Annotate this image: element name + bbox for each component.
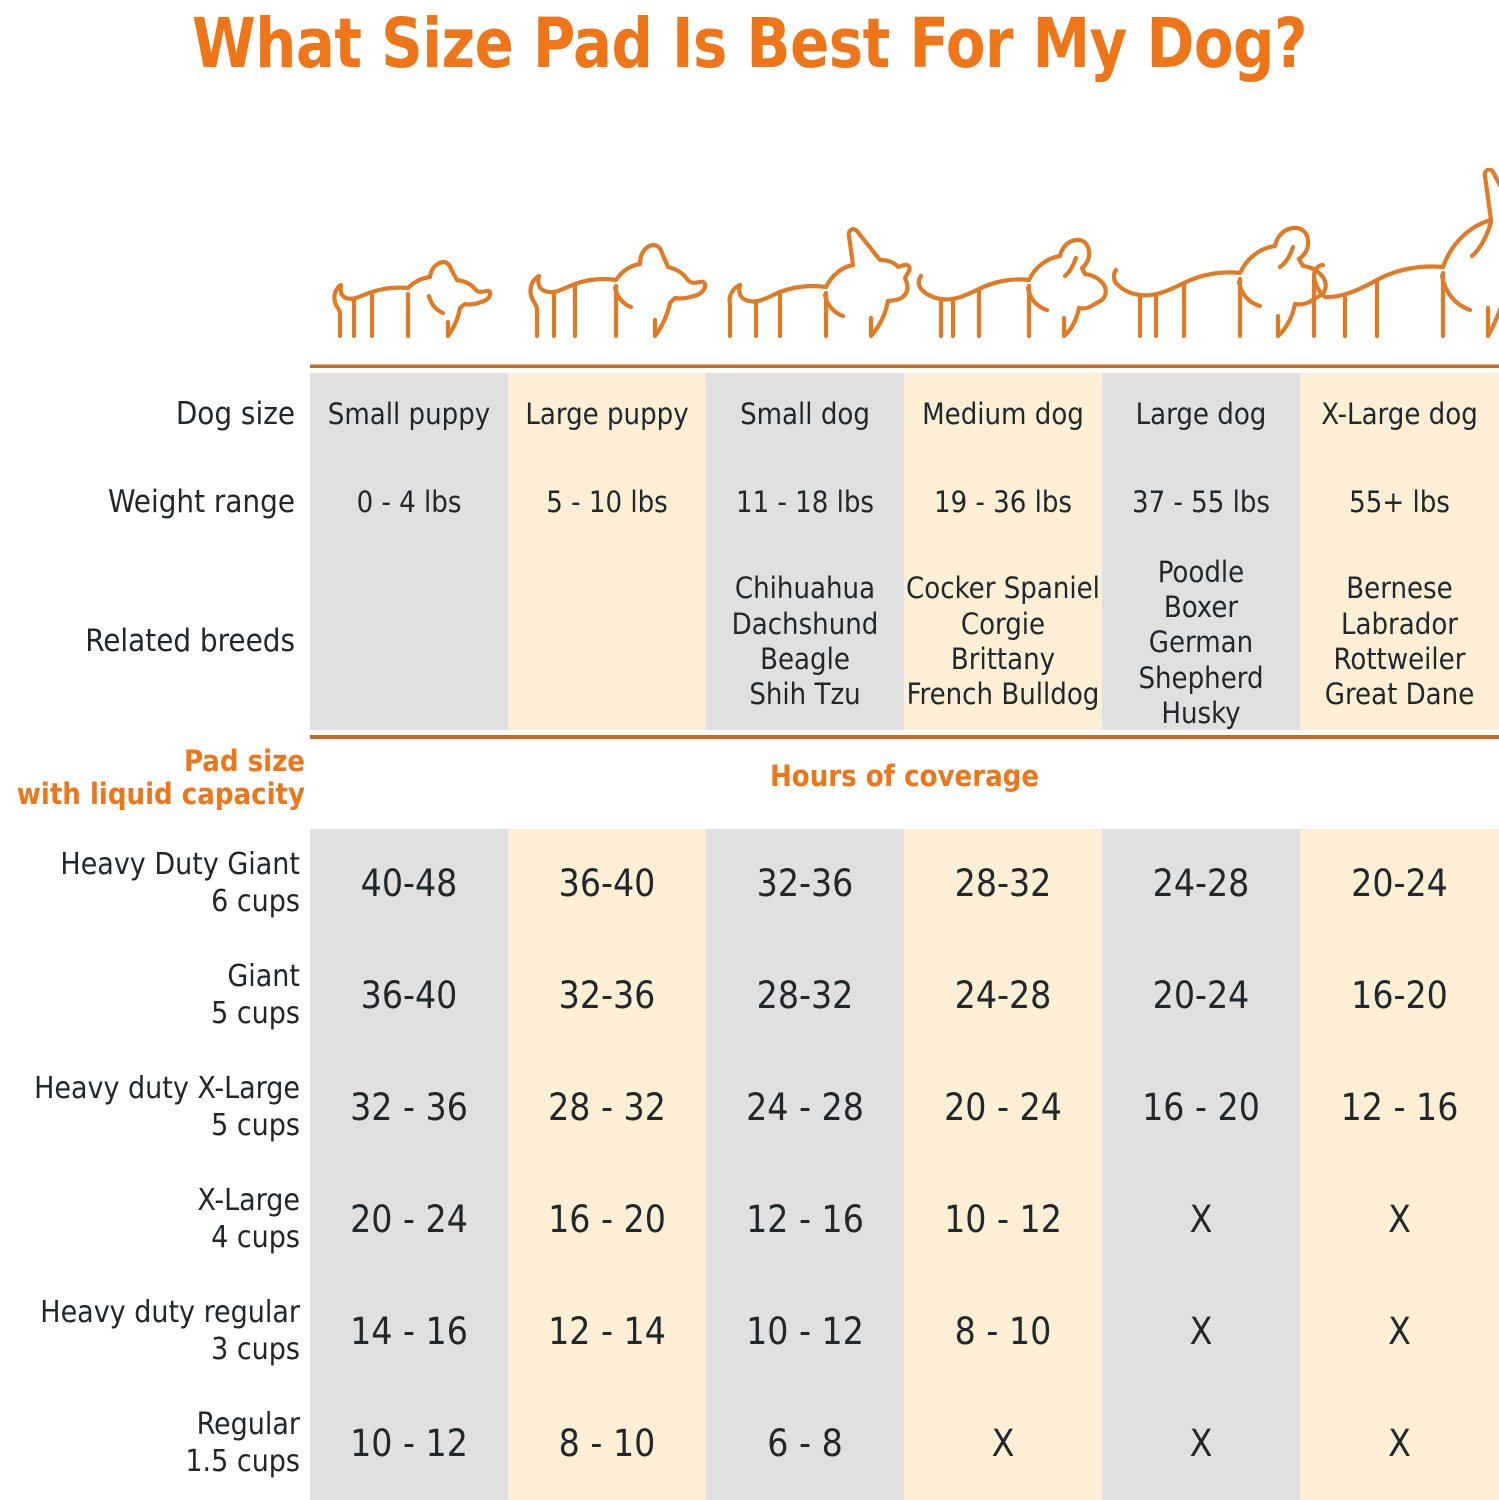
pad-cell-1-4: 28-32	[904, 845, 1102, 923]
cell-related-breeds-4: Cocker Spaniel Corgie Brittany French Bu…	[904, 556, 1102, 728]
pad-cell-3-5: 16 - 20	[1102, 1069, 1300, 1147]
cell-weight-range-5: 37 - 55 lbs	[1102, 477, 1300, 529]
pad-cell-1-1: 40-48	[310, 845, 508, 923]
pad-cell-1-3: 32-36	[706, 845, 904, 923]
column-band-2-6	[1300, 829, 1499, 1500]
pad-cell-5-5: X	[1102, 1293, 1300, 1371]
pad-cell-2-6: 16-20	[1300, 957, 1499, 1035]
cell-weight-range-3: 11 - 18 lbs	[706, 477, 904, 529]
infographic-page: What Size Pad Is Best For My Dog?	[0, 0, 1499, 1500]
pad-cell-5-1: 14 - 16	[310, 1293, 508, 1371]
pad-cell-1-2: 36-40	[508, 845, 706, 923]
pad-cell-5-3: 10 - 12	[706, 1293, 904, 1371]
pad-cell-4-5: X	[1102, 1181, 1300, 1259]
pad-cell-2-2: 32-36	[508, 957, 706, 1035]
dog-silhouette-row	[310, 168, 1499, 368]
cell-related-breeds-1	[310, 556, 508, 728]
cell-dog-size-5: Large dog	[1102, 389, 1300, 441]
row-label-related-breeds: Related breeds	[0, 556, 295, 728]
pad-cell-1-6: 20-24	[1300, 845, 1499, 923]
cell-related-breeds-3: Chihuahua Dachshund Beagle Shih Tzu	[706, 556, 904, 728]
pad-cell-6-3: 6 - 8	[706, 1405, 904, 1483]
pad-cell-2-3: 28-32	[706, 957, 904, 1035]
pad-cell-3-4: 20 - 24	[904, 1069, 1102, 1147]
cell-dog-size-6: X-Large dog	[1300, 389, 1499, 441]
column-band-2-3	[706, 829, 904, 1500]
cell-weight-range-6: 55+ lbs	[1300, 477, 1499, 529]
pad-cell-3-1: 32 - 36	[310, 1069, 508, 1147]
pad-cell-5-4: 8 - 10	[904, 1293, 1102, 1371]
pad-cell-6-5: X	[1102, 1405, 1300, 1483]
pad-row-label-5: Heavy duty regular 3 cups	[0, 1293, 300, 1371]
cell-dog-size-4: Medium dog	[904, 389, 1102, 441]
dog-silhouette-medium-dog-icon	[919, 240, 1106, 336]
pad-row-label-2: Giant 5 cups	[0, 957, 300, 1035]
column-band-2-4	[904, 829, 1102, 1500]
cell-weight-range-4: 19 - 36 lbs	[904, 477, 1102, 529]
cell-dog-size-1: Small puppy	[310, 389, 508, 441]
pad-cell-4-2: 16 - 20	[508, 1181, 706, 1259]
pad-row-label-1: Heavy Duty Giant 6 cups	[0, 845, 300, 923]
dog-silhouette-small-dog-icon	[730, 229, 910, 336]
cell-related-breeds-2	[508, 556, 706, 728]
cell-weight-range-2: 5 - 10 lbs	[508, 477, 706, 529]
pad-cell-5-6: X	[1300, 1293, 1499, 1371]
dog-silhouette-large-dog-icon	[1114, 228, 1326, 336]
pad-cell-2-4: 24-28	[904, 957, 1102, 1035]
row-label-dog-size: Dog size	[0, 389, 295, 441]
pad-cell-2-5: 20-24	[1102, 957, 1300, 1035]
pad-row-label-3: Heavy duty X-Large 5 cups	[0, 1069, 300, 1147]
cell-related-breeds-6: Bernese Labrador Rottweiler Great Dane	[1300, 556, 1499, 728]
column-band-2-5	[1102, 829, 1300, 1500]
pad-cell-1-5: 24-28	[1102, 845, 1300, 923]
cell-dog-size-3: Small dog	[706, 389, 904, 441]
section-divider-rule	[310, 735, 1499, 739]
pad-cell-5-2: 12 - 14	[508, 1293, 706, 1371]
dog-silhouette-xlarge-dog-icon	[1314, 169, 1499, 336]
pad-cell-3-6: 12 - 16	[1300, 1069, 1499, 1147]
column-band-2-2	[508, 829, 706, 1500]
row-label-weight-range: Weight range	[0, 477, 295, 529]
column-band-2-1	[310, 829, 508, 1500]
cell-dog-size-2: Large puppy	[508, 389, 706, 441]
pad-cell-4-6: X	[1300, 1181, 1499, 1259]
cell-weight-range-1: 0 - 4 lbs	[310, 477, 508, 529]
pad-cell-2-1: 36-40	[310, 957, 508, 1035]
pad-cell-4-3: 12 - 16	[706, 1181, 904, 1259]
page-title: What Size Pad Is Best For My Dog?	[52, 4, 1446, 84]
pad-cell-4-4: 10 - 12	[904, 1181, 1102, 1259]
hours-of-coverage-header: Hours of coverage	[310, 760, 1499, 793]
pad-row-label-6: Regular 1.5 cups	[0, 1405, 300, 1483]
pad-row-label-4: X-Large 4 cups	[0, 1181, 300, 1259]
pad-cell-6-1: 10 - 12	[310, 1405, 508, 1483]
cell-related-breeds-5: Poodle Boxer German Shepherd Husky	[1102, 548, 1300, 738]
pad-cell-6-4: X	[904, 1405, 1102, 1483]
pad-cell-3-3: 24 - 28	[706, 1069, 904, 1147]
dog-silhouette-small-puppy-icon	[334, 262, 490, 336]
pad-cell-4-1: 20 - 24	[310, 1181, 508, 1259]
pad-size-header: Pad size with liquid capacity	[0, 745, 305, 811]
pad-cell-6-2: 8 - 10	[508, 1405, 706, 1483]
pad-cell-3-2: 28 - 32	[508, 1069, 706, 1147]
pad-cell-6-6: X	[1300, 1405, 1499, 1483]
dog-silhouette-large-puppy-icon	[530, 245, 705, 336]
